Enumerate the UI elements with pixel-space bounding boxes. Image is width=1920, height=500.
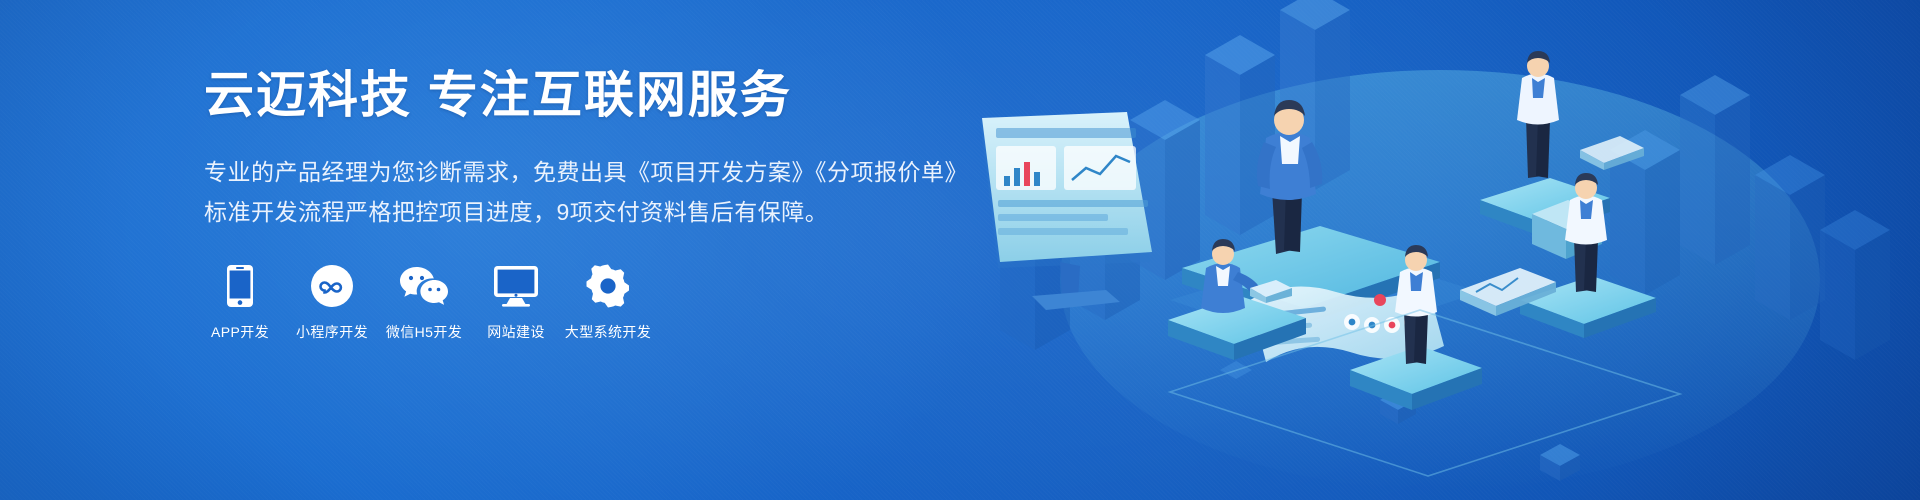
service-label-website: 网站建设 — [487, 322, 545, 342]
wechat-icon — [399, 263, 449, 309]
isometric-illustration — [920, 0, 1920, 500]
banner-content: 云迈科技 专注互联网服务 专业的产品经理为您诊断需求，免费出具《项目开发方案》《… — [204, 66, 944, 342]
mini-program-icon — [311, 263, 353, 309]
subtitle-line-2: 标准开发流程严格把控项目进度，9项交付资料售后有保障。 — [204, 192, 944, 232]
service-item-website[interactable]: 网站建设 — [480, 263, 552, 342]
service-label-large-system: 大型系统开发 — [565, 322, 651, 342]
subtitle-line-1: 专业的产品经理为您诊断需求，免费出具《项目开发方案》《分项报价单》 — [204, 152, 944, 192]
service-item-large-system[interactable]: 大型系统开发 — [572, 263, 644, 342]
service-list: APP开发 小程序开发 — [204, 263, 944, 342]
service-item-mini-program[interactable]: 小程序开发 — [296, 263, 368, 342]
page-title: 云迈科技 专注互联网服务 — [204, 66, 944, 125]
banner-subtitle: 专业的产品经理为您诊断需求，免费出具《项目开发方案》《分项报价单》 标准开发流程… — [204, 152, 944, 233]
service-label-mini-program: 小程序开发 — [296, 322, 368, 342]
promo-banner: 云迈科技 专注互联网服务 专业的产品经理为您诊断需求，免费出具《项目开发方案》《… — [0, 0, 1920, 500]
service-label-app: APP开发 — [211, 322, 269, 342]
service-label-wechat-h5: 微信H5开发 — [386, 322, 462, 342]
service-item-app[interactable]: APP开发 — [204, 263, 276, 342]
service-item-wechat-h5[interactable]: 微信H5开发 — [388, 263, 460, 342]
mobile-phone-icon — [227, 263, 253, 309]
gear-icon — [586, 263, 630, 309]
monitor-icon — [493, 263, 539, 309]
